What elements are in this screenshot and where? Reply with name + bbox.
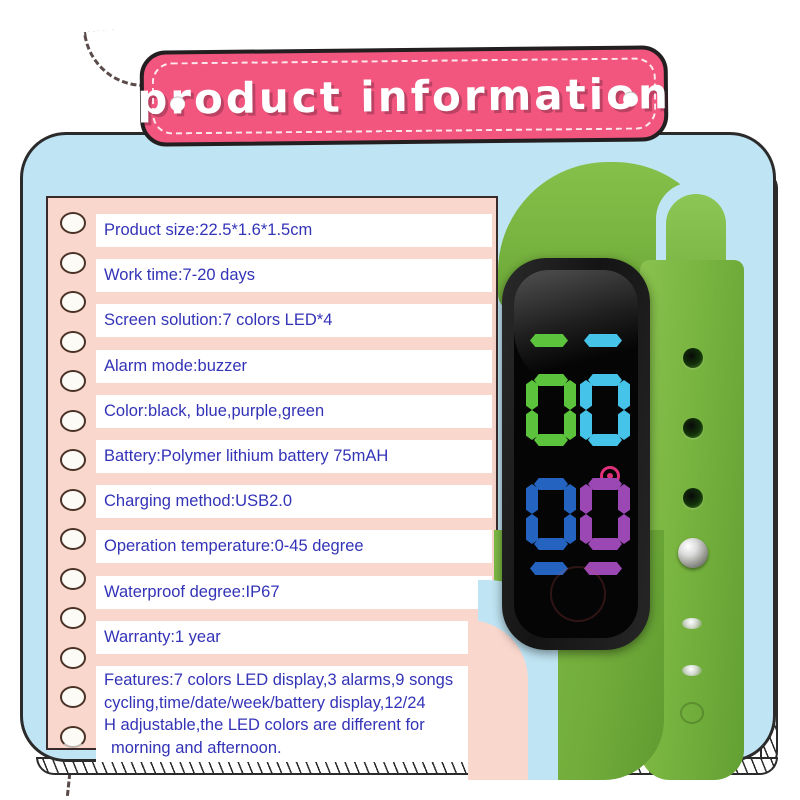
page-title-tag: product information <box>140 45 669 147</box>
ring-hole-4-icon <box>60 331 86 353</box>
spec-row: Charging method:USB2.0 <box>96 485 492 518</box>
strap-hole-5-icon <box>682 665 702 676</box>
led-watch-image <box>470 150 770 775</box>
ring-hole-10-icon <box>60 568 86 590</box>
features-line3: H adjustable,the LED colors are differen… <box>104 714 492 737</box>
ring-hole-12-icon <box>60 647 86 669</box>
ring-hole-9-icon <box>60 528 86 550</box>
spec-row: Battery:Polymer lithium battery 75mAH <box>96 440 492 473</box>
ring-hole-5-icon <box>60 370 86 392</box>
tag-hole-left-icon <box>170 96 185 111</box>
strap-hole-3-icon <box>683 488 703 508</box>
ring-hole-11-icon <box>60 607 86 629</box>
top-bar-left-icon <box>530 334 568 347</box>
ring-hole-13-icon <box>60 686 86 708</box>
spec-row: Warranty:1 year <box>96 621 492 654</box>
spec-row: Color:black, blue,purple,green <box>96 395 492 428</box>
strap-hole-1-icon <box>683 348 703 368</box>
ring-hole-7-icon <box>60 449 86 471</box>
spec-row: Alarm mode:buzzer <box>96 350 492 383</box>
ring-hole-2-icon <box>60 252 86 274</box>
spec-row: Work time:7-20 days <box>96 259 492 292</box>
spec-row: Product size:22.5*1.6*1.5cm <box>96 214 492 247</box>
features-line2: cycling,time/date/week/battery display,1… <box>104 692 492 715</box>
infographic-canvas: product information Product size:22.5*1.… <box>0 0 800 800</box>
strap-hole-6-icon <box>680 702 704 724</box>
screen-glare <box>514 270 638 390</box>
spec-rows: Product size:22.5*1.6*1.5cmWork time:7-2… <box>96 206 492 744</box>
ring-hole-8-icon <box>60 489 86 511</box>
ring-hole-6-icon <box>60 410 86 432</box>
features-line4: morning and afternoon. <box>104 737 492 760</box>
watch-body <box>502 258 650 650</box>
watch-screen <box>514 270 638 638</box>
spec-list-panel: Product size:22.5*1.6*1.5cmWork time:7-2… <box>46 196 498 750</box>
digit-hour-tens <box>526 374 576 446</box>
digit-hour-ones <box>580 374 630 446</box>
strap-hole-2-icon <box>683 418 703 438</box>
ring-binder-column <box>48 198 94 748</box>
spec-row: Waterproof degree:IP67 <box>96 576 492 609</box>
spec-row: Operation temperature:0-45 degree <box>96 530 492 563</box>
ring-hole-14-icon <box>60 726 86 748</box>
touch-button-icon[interactable] <box>550 566 606 622</box>
tag-hole-right-icon <box>623 92 638 107</box>
features-line1: Features:7 colors LED display,3 alarms,9… <box>104 669 492 692</box>
ring-hole-1-icon <box>60 212 86 234</box>
digit-minute-ones <box>580 478 630 550</box>
digit-minute-tens <box>526 478 576 550</box>
ring-hole-3-icon <box>60 291 86 313</box>
page-title: product information <box>137 69 671 124</box>
spec-row-features: Features:7 colors LED display,3 alarms,9… <box>96 666 492 762</box>
strap-hole-4-icon <box>682 618 702 629</box>
top-bar-right-icon <box>584 334 622 347</box>
buckle-pin-icon <box>678 538 708 568</box>
spec-row: Screen solution:7 colors LED*4 <box>96 304 492 337</box>
